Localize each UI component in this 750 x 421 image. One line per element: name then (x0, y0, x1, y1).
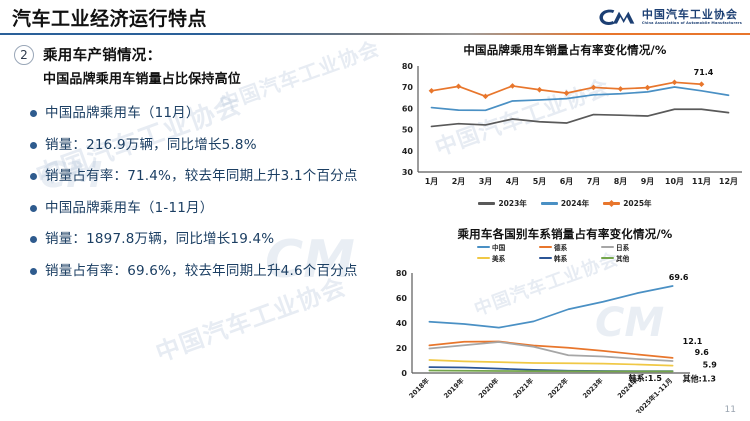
section-title-group: 乘用车产销情况： 中国品牌乘用车销量占比保持高位 (43, 44, 241, 87)
svg-text:2018年: 2018年 (407, 376, 431, 400)
svg-text:30: 30 (402, 168, 414, 177)
bullet-list: 中国品牌乘用车（11月） 销量：216.9万辆，同比增长5.8% 销量占有率：7… (30, 104, 370, 293)
chart-legend: 中国德系日系美系韩系其他 (382, 242, 748, 263)
svg-text:71.4: 71.4 (694, 68, 714, 77)
svg-text:12月: 12月 (719, 177, 738, 186)
bullet-dot-icon (30, 142, 37, 149)
chart-legend: 2023年2024年2025年 (382, 198, 748, 209)
chart-title: 乘用车各国别车系销量占有率变化情况/% (382, 226, 748, 242)
chart-title: 中国品牌乘用车销量占有率变化情况/% (382, 42, 748, 58)
svg-text:60: 60 (396, 294, 408, 303)
logo-name-cn: 中国汽车工业协会 (642, 9, 742, 20)
legend-item: 德系 (539, 242, 591, 252)
bullet-dot-icon (30, 236, 37, 243)
svg-text:韩系:1.5: 韩系:1.5 (629, 373, 663, 383)
svg-text:6月: 6月 (560, 177, 574, 186)
svg-text:80: 80 (402, 62, 414, 71)
legend-swatch-icon (539, 257, 552, 259)
bullet-dot-icon (30, 205, 37, 212)
legend-label: 韩系 (554, 253, 567, 263)
list-item-label: 中国品牌乘用车（1-11月） (45, 199, 213, 219)
line-chart-svg: 3040506070801月2月3月4月5月6月7月8月9月10月11月12月7… (382, 58, 748, 198)
legend-item: 2024年 (541, 198, 589, 209)
line-chart-svg: 0204060802018年2019年2020年2021年2022年2023年2… (382, 263, 748, 413)
chart-china-brand-pv-share: 中国品牌乘用车销量占有率变化情况/% 3040506070801月2月3月4月5… (382, 42, 748, 220)
chart-pv-share-by-origin: 乘用车各国别车系销量占有率变化情况/% 中国德系日系美系韩系其他 0204060… (382, 226, 748, 414)
svg-text:40: 40 (396, 319, 408, 328)
svg-text:20: 20 (396, 344, 408, 353)
chart-plot-area: 3040506070801月2月3月4月5月6月7月8月9月10月11月12月7… (382, 58, 748, 198)
svg-text:7月: 7月 (587, 177, 601, 186)
svg-text:5月: 5月 (533, 177, 547, 186)
legend-swatch-icon (601, 246, 614, 248)
list-item-label: 中国品牌乘用车（11月） (45, 104, 200, 124)
legend-item: 其他 (601, 253, 653, 263)
legend-label: 2023年 (498, 198, 526, 209)
section-number-badge: 2 (14, 45, 34, 65)
svg-text:9.6: 9.6 (695, 348, 710, 357)
legend-swatch-icon (539, 246, 552, 248)
legend-label: 2024年 (561, 198, 589, 209)
bullet-dot-icon (30, 173, 37, 180)
svg-text:9月: 9月 (641, 177, 655, 186)
legend-swatch-icon (477, 257, 490, 259)
list-item-label: 销量：1897.8万辆，同比增长19.4% (45, 230, 274, 250)
svg-text:3月: 3月 (479, 177, 493, 186)
svg-text:2022年: 2022年 (546, 376, 570, 400)
svg-text:其他:1.3: 其他:1.3 (683, 373, 716, 383)
chart-plot-area: 0204060802018年2019年2020年2021年2022年2023年2… (382, 263, 748, 413)
legend-swatch-icon (477, 246, 490, 248)
legend-item: 美系 (477, 253, 529, 263)
legend-label: 日系 (616, 242, 629, 252)
legend-swatch-icon (601, 257, 614, 259)
legend-label: 2025年 (623, 198, 651, 209)
svg-text:12.1: 12.1 (683, 337, 703, 346)
svg-text:2020年: 2020年 (476, 376, 500, 400)
svg-text:40: 40 (402, 147, 414, 156)
svg-text:11月: 11月 (692, 177, 711, 186)
list-item-label: 销量占有率：69.6%，较去年同期上升4.6个百分点 (45, 262, 358, 282)
slide-page: 中国汽车工业协会 中国汽车工业协会 中国汽车工业协会 中国汽车工业协会 中国汽车… (0, 0, 750, 421)
legend-item: 中国 (477, 242, 529, 252)
cam-logo-icon (597, 6, 637, 28)
svg-text:2月: 2月 (452, 177, 466, 186)
svg-text:0: 0 (401, 369, 407, 378)
legend-swatch-icon (603, 202, 620, 204)
svg-text:60: 60 (402, 104, 414, 113)
legend-label: 德系 (554, 242, 567, 252)
svg-text:69.6: 69.6 (669, 273, 689, 282)
bullet-dot-icon (30, 268, 37, 275)
legend-label: 中国 (492, 242, 505, 252)
page-number: 11 (725, 405, 736, 415)
svg-text:80: 80 (396, 269, 408, 278)
svg-text:4月: 4月 (506, 177, 520, 186)
svg-text:2021年: 2021年 (511, 376, 535, 400)
svg-text:8月: 8月 (614, 177, 628, 186)
page-title: 汽车工业经济运行特点 (12, 4, 207, 31)
legend-item: 2023年 (478, 198, 526, 209)
section-heading: 2 乘用车产销情况： 中国品牌乘用车销量占比保持高位 (14, 44, 241, 87)
svg-text:2023年: 2023年 (581, 376, 605, 400)
list-item: 销量占有率：69.6%，较去年同期上升4.6个百分点 (30, 262, 370, 282)
association-logo: 中国汽车工业协会 China Association of Automobile… (597, 4, 742, 30)
legend-label: 其他 (616, 253, 629, 263)
svg-text:10月: 10月 (665, 177, 684, 186)
svg-text:50: 50 (402, 126, 414, 135)
legend-swatch-icon (541, 202, 558, 204)
bullet-dot-icon (30, 110, 37, 117)
slide-header: 汽车工业经济运行特点 中国汽车工业协会 China Association of… (0, 0, 750, 36)
section-title: 乘用车产销情况： (43, 44, 241, 65)
svg-text:1月: 1月 (425, 177, 439, 186)
logo-name-en: China Association of Automobile Manufact… (642, 22, 742, 25)
list-item-label: 销量占有率：71.4%，较去年同期上升3.1个百分点 (45, 167, 358, 187)
svg-text:70: 70 (402, 83, 414, 92)
legend-item: 韩系 (539, 253, 591, 263)
list-item: 中国品牌乘用车（11月） (30, 104, 370, 124)
header-divider (0, 33, 750, 35)
list-item: 销量占有率：71.4%，较去年同期上升3.1个百分点 (30, 167, 370, 187)
logo-text: 中国汽车工业协会 China Association of Automobile… (642, 9, 742, 25)
legend-item: 2025年 (603, 198, 651, 209)
list-item: 销量：1897.8万辆，同比增长19.4% (30, 230, 370, 250)
legend-item: 日系 (601, 242, 653, 252)
list-item: 中国品牌乘用车（1-11月） (30, 199, 370, 219)
section-subtitle: 中国品牌乘用车销量占比保持高位 (43, 68, 241, 87)
legend-label: 美系 (492, 253, 505, 263)
svg-text:2019年: 2019年 (442, 376, 466, 400)
list-item: 销量：216.9万辆，同比增长5.8% (30, 136, 370, 156)
list-item-label: 销量：216.9万辆，同比增长5.8% (45, 136, 257, 156)
svg-text:5.9: 5.9 (703, 361, 718, 370)
legend-swatch-icon (478, 202, 495, 204)
left-content-column: 2 乘用车产销情况： 中国品牌乘用车销量占比保持高位 中国品牌乘用车（11月） … (0, 38, 378, 421)
